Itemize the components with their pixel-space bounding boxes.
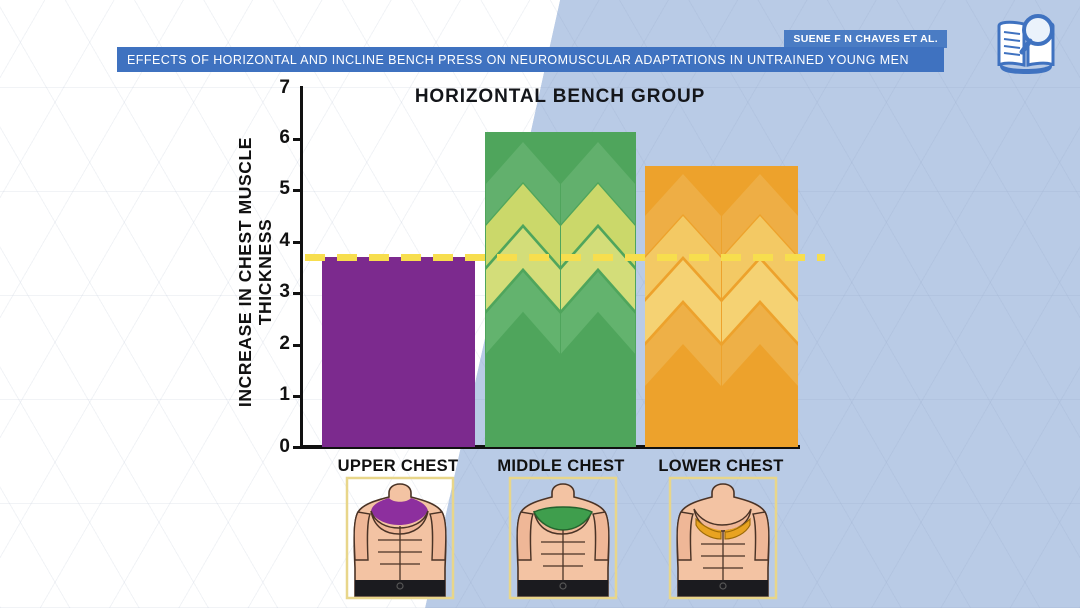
y-tick-4: 4 bbox=[279, 230, 290, 252]
study-title-bar: EFFECTS OF HORIZONTAL AND INCLINE BENCH … bbox=[117, 47, 944, 72]
plot-area bbox=[300, 86, 810, 447]
open-book-magnifier-icon bbox=[990, 8, 1062, 80]
x-label-middle-chest: MIDDLE CHEST bbox=[478, 454, 644, 478]
middle-chest-torso bbox=[508, 476, 618, 600]
x-label-upper-chest: UPPER CHEST bbox=[315, 454, 481, 478]
y-tick-1: 1 bbox=[279, 384, 290, 406]
header: SUENE F N CHAVES ET AL. EFFECTS OF HORIZ… bbox=[0, 0, 1080, 90]
y-tick-6: 6 bbox=[279, 127, 290, 149]
y-tick-5: 5 bbox=[279, 178, 290, 200]
y-tick-3: 3 bbox=[279, 281, 290, 303]
bar-middle-chest[interactable] bbox=[485, 132, 636, 447]
lower-chest-torso bbox=[668, 476, 778, 600]
chevron-pattern-icon bbox=[645, 166, 798, 447]
author-byline: SUENE F N CHAVES ET AL. bbox=[784, 30, 947, 48]
reference-dashed-line bbox=[305, 254, 825, 261]
chevron-pattern-icon bbox=[485, 132, 636, 447]
y-tick-0: 0 bbox=[279, 436, 290, 458]
y-tick-2: 2 bbox=[279, 333, 290, 355]
x-label-lower-chest: LOWER CHEST bbox=[638, 454, 804, 478]
bar-upper-chest[interactable] bbox=[322, 257, 475, 447]
upper-chest-torso bbox=[345, 476, 455, 600]
y-axis-tick-labels: 0 1 2 3 4 5 6 7 bbox=[258, 0, 290, 608]
bar-lower-chest[interactable] bbox=[645, 166, 798, 447]
